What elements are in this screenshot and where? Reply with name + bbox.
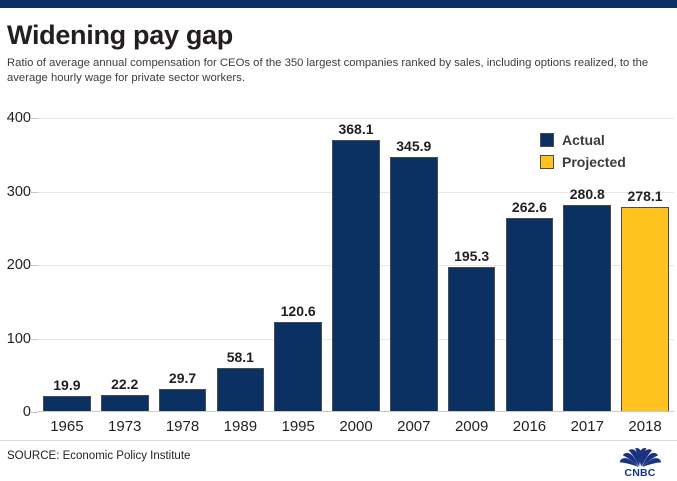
top-accent-bar	[0, 0, 677, 8]
chart-header: Widening pay gap Ratio of average annual…	[7, 19, 669, 86]
x-axis-tick-1973: 1973	[108, 418, 141, 435]
chart-subtitle: Ratio of average annual compensation for…	[7, 56, 667, 86]
gridline-400	[38, 118, 674, 119]
x-axis-tick-2000: 2000	[339, 418, 372, 435]
bar-value-label-2018: 278.1	[628, 188, 663, 204]
bar-value-label-1965: 19.9	[53, 377, 80, 393]
bar-1995[interactable]: 120.6	[274, 322, 322, 411]
y-axis-tick-100: 100	[7, 331, 31, 347]
y-axis-tick-mark-100	[31, 339, 38, 340]
x-axis-tick-1995: 1995	[281, 418, 314, 435]
cnbc-chart-infographic: Widening pay gap Ratio of average annual…	[0, 0, 677, 481]
bar-2017[interactable]: 280.8	[563, 205, 611, 411]
x-axis-tick-2007: 2007	[397, 418, 430, 435]
bar-value-label-1995: 120.6	[281, 303, 316, 319]
bar-value-label-2009: 195.3	[454, 248, 489, 264]
bar-value-label-2000: 368.1	[338, 121, 373, 137]
bar-1973[interactable]: 22.2	[101, 395, 149, 411]
x-axis-tick-2016: 2016	[513, 418, 546, 435]
x-axis-tick-2009: 2009	[455, 418, 488, 435]
bar-2009[interactable]: 195.3	[448, 267, 496, 411]
bar-value-label-1989: 58.1	[227, 349, 254, 365]
svg-text:CNBC: CNBC	[624, 467, 655, 477]
bar-value-label-2007: 345.9	[396, 138, 431, 154]
x-axis-tick-1978: 1978	[166, 418, 199, 435]
bar-2007[interactable]: 345.9	[390, 157, 438, 411]
y-axis-tick-200: 200	[7, 257, 31, 273]
bar-1989[interactable]: 58.1	[217, 368, 265, 411]
x-axis-baseline	[38, 411, 674, 412]
bar-value-label-2017: 280.8	[570, 186, 605, 202]
bar-2000[interactable]: 368.1	[332, 140, 380, 411]
bar-1978[interactable]: 29.7	[159, 389, 207, 411]
x-axis-tick-1989: 1989	[224, 418, 257, 435]
y-axis-tick-mark-400	[31, 118, 38, 119]
y-axis-tick-400: 400	[7, 110, 31, 126]
y-axis-tick-300: 300	[7, 184, 31, 200]
footer-divider	[0, 440, 677, 441]
bar-value-label-1973: 22.2	[111, 376, 138, 392]
bar-value-label-1978: 29.7	[169, 370, 196, 386]
x-axis-tick-2018: 2018	[628, 418, 661, 435]
chart-plot-area: 010020030040019.9196522.2197329.7197858.…	[38, 118, 674, 412]
y-axis-tick-mark-200	[31, 265, 38, 266]
cnbc-peacock-logo: CNBC	[611, 444, 669, 477]
page-title: Widening pay gap	[7, 19, 669, 51]
bar-value-label-2016: 262.6	[512, 199, 547, 215]
bar-2018[interactable]: 278.1	[621, 207, 669, 411]
y-axis-tick-mark-300	[31, 192, 38, 193]
bar-1965[interactable]: 19.9	[43, 396, 91, 411]
y-axis-tick-0: 0	[23, 404, 31, 420]
x-axis-tick-1965: 1965	[50, 418, 83, 435]
source-note: SOURCE: Economic Policy Institute	[7, 450, 190, 462]
y-axis-tick-mark-0	[31, 412, 38, 413]
bar-2016[interactable]: 262.6	[506, 218, 554, 411]
x-axis-tick-2017: 2017	[571, 418, 604, 435]
